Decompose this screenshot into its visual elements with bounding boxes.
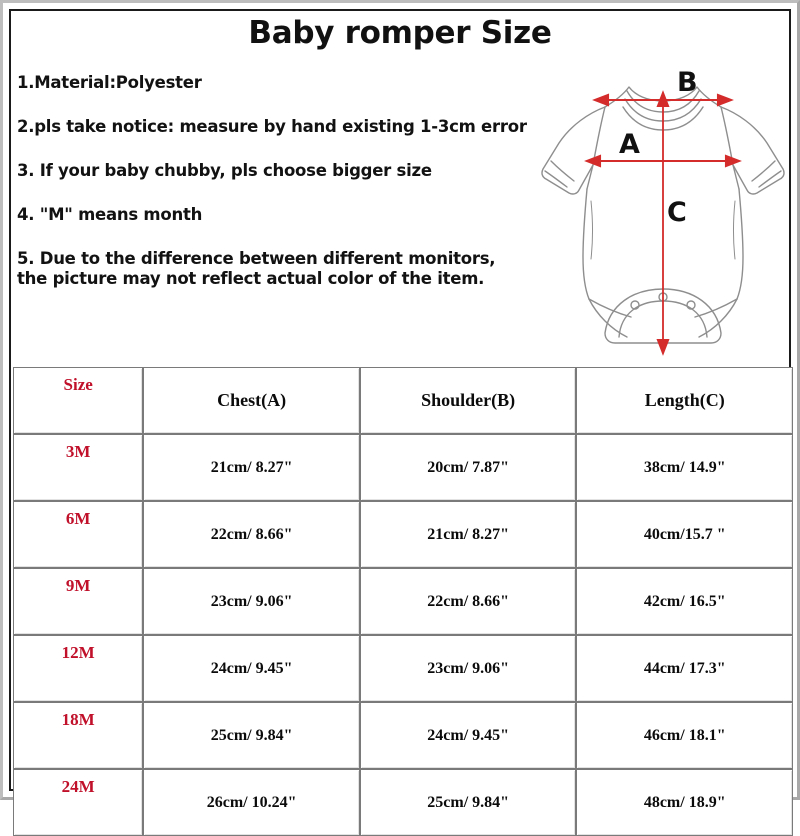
cell-shoulder: 22cm/ 8.66" [360, 568, 577, 635]
table-row: 6M 22cm/ 8.66" 21cm/ 8.27" 40cm/15.7 " [13, 501, 793, 568]
table-header-row: Size Chest(A) Shoulder(B) Length(C) [13, 367, 793, 434]
cell-length: 48cm/ 18.9" [576, 769, 793, 836]
cell-chest: 22cm/ 8.66" [143, 501, 360, 568]
cell-chest: 24cm/ 9.45" [143, 635, 360, 702]
page-title: Baby romper Size [3, 15, 797, 51]
note-item: 5. Due to the difference between differe… [17, 249, 527, 289]
table-row: 3M 21cm/ 8.27" 20cm/ 7.87" 38cm/ 14.9" [13, 434, 793, 501]
cell-length: 40cm/15.7 " [576, 501, 793, 568]
header-chest: Chest(A) [143, 367, 360, 434]
cell-chest: 23cm/ 9.06" [143, 568, 360, 635]
table-row: 9M 23cm/ 9.06" 22cm/ 8.66" 42cm/ 16.5" [13, 568, 793, 635]
left-body-side [583, 189, 589, 299]
cell-chest: 25cm/ 9.84" [143, 702, 360, 769]
right-body-side [737, 189, 743, 299]
cell-shoulder: 23cm/ 9.06" [360, 635, 577, 702]
cell-chest: 21cm/ 8.27" [143, 434, 360, 501]
size-chart-page: Baby romper Size 1.Material:Polyester 2.… [0, 0, 800, 800]
note-item: 2.pls take notice: measure by hand exist… [17, 117, 527, 137]
table-row: 18M 25cm/ 9.84" 24cm/ 9.45" 46cm/ 18.1" [13, 702, 793, 769]
cell-size: 18M [13, 702, 143, 769]
cell-shoulder: 25cm/ 9.84" [360, 769, 577, 836]
arrow-c-head-bottom [658, 340, 668, 353]
arrow-b-head-left [595, 95, 608, 105]
note-item: 4. "M" means month [17, 205, 527, 225]
cell-shoulder: 21cm/ 8.27" [360, 501, 577, 568]
right-armhole [721, 107, 739, 189]
romper-diagram: B A C [531, 61, 795, 361]
label-c: C [667, 197, 687, 228]
label-b: B [677, 67, 698, 98]
cell-shoulder: 24cm/ 9.45" [360, 702, 577, 769]
note-item: 3. If your baby chubby, pls choose bigge… [17, 161, 527, 181]
cell-length: 44cm/ 17.3" [576, 635, 793, 702]
cell-length: 42cm/ 16.5" [576, 568, 793, 635]
arrow-b-head-right [718, 95, 731, 105]
label-a: A [619, 129, 640, 160]
romper-illustration: B A C [531, 61, 795, 361]
table-row: 12M 24cm/ 9.45" 23cm/ 9.06" 44cm/ 17.3" [13, 635, 793, 702]
cell-chest: 26cm/ 10.24" [143, 769, 360, 836]
table-row: 24M 26cm/ 10.24" 25cm/ 9.84" 48cm/ 18.9" [13, 769, 793, 836]
right-seam-crease [734, 201, 736, 259]
left-leg-opening [589, 299, 627, 337]
notes-list: 1.Material:Polyester 2.pls take notice: … [17, 73, 527, 289]
right-leg-opening [699, 299, 737, 337]
cell-size: 24M [13, 769, 143, 836]
header-length: Length(C) [576, 367, 793, 434]
arrow-a-head-right [726, 156, 739, 166]
header-size: Size [13, 367, 143, 434]
arrow-a-head-left [587, 156, 600, 166]
cell-shoulder: 20cm/ 7.87" [360, 434, 577, 501]
cell-size: 9M [13, 568, 143, 635]
cell-size: 6M [13, 501, 143, 568]
cell-length: 46cm/ 18.1" [576, 702, 793, 769]
cell-size: 3M [13, 434, 143, 501]
arrow-c-head-top [658, 93, 668, 106]
note-item: 1.Material:Polyester [17, 73, 527, 93]
right-leg-inner [695, 299, 737, 317]
cell-length: 38cm/ 14.9" [576, 434, 793, 501]
header-shoulder: Shoulder(B) [360, 367, 577, 434]
size-table: Size Chest(A) Shoulder(B) Length(C) 3M 2… [13, 367, 793, 836]
left-armhole [587, 107, 605, 189]
cell-size: 12M [13, 635, 143, 702]
left-seam-crease [591, 201, 593, 259]
left-leg-inner [589, 299, 631, 317]
